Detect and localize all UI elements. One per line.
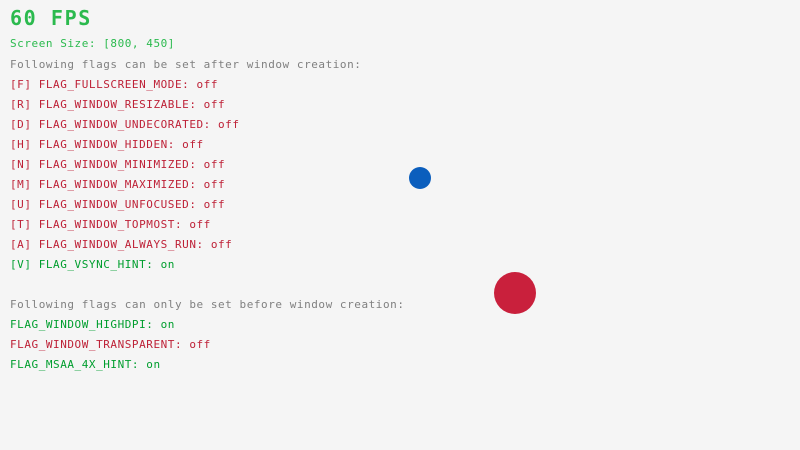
flag-row-flag-window-undecorated[interactable]: [D] FLAG_WINDOW_UNDECORATED: off — [10, 119, 240, 139]
flag-row-flag-window-resizable[interactable]: [R] FLAG_WINDOW_RESIZABLE: off — [10, 99, 240, 119]
flags-before-creation-list: FLAG_WINDOW_HIGHDPI: onFLAG_WINDOW_TRANS… — [10, 319, 211, 379]
flag-row-flag-window-topmost[interactable]: [T] FLAG_WINDOW_TOPMOST: off — [10, 219, 240, 239]
bouncing-ball-large — [494, 272, 536, 314]
bouncing-ball-small — [409, 167, 431, 189]
flag-row-flag-window-always-run[interactable]: [A] FLAG_WINDOW_ALWAYS_RUN: off — [10, 239, 240, 259]
fps-counter: 60 FPS — [10, 8, 92, 28]
flag-row-flag-window-hidden[interactable]: [H] FLAG_WINDOW_HIDDEN: off — [10, 139, 240, 159]
flag-row-flag-vsync-hint[interactable]: [V] FLAG_VSYNC_HINT: on — [10, 259, 240, 279]
flag-row-flag-window-unfocused[interactable]: [U] FLAG_WINDOW_UNFOCUSED: off — [10, 199, 240, 219]
flag-row-flag-window-maximized[interactable]: [M] FLAG_WINDOW_MAXIMIZED: off — [10, 179, 240, 199]
flag-row-flag-window-transparent: FLAG_WINDOW_TRANSPARENT: off — [10, 339, 211, 359]
flag-row-flag-msaa-4x-hint: FLAG_MSAA_4X_HINT: on — [10, 359, 211, 379]
after-creation-section-header: Following flags can be set after window … — [10, 59, 361, 70]
before-creation-section-header: Following flags can only be set before w… — [10, 299, 405, 310]
flag-row-flag-fullscreen-mode[interactable]: [F] FLAG_FULLSCREEN_MODE: off — [10, 79, 240, 99]
flag-row-flag-window-highdpi: FLAG_WINDOW_HIGHDPI: on — [10, 319, 211, 339]
flags-after-creation-list: [F] FLAG_FULLSCREEN_MODE: off[R] FLAG_WI… — [10, 79, 240, 279]
raylib-window-canvas[interactable]: 60 FPS Screen Size: [800, 450] Following… — [0, 0, 800, 450]
flag-row-flag-window-minimized[interactable]: [N] FLAG_WINDOW_MINIMIZED: off — [10, 159, 240, 179]
screen-size-label: Screen Size: [800, 450] — [10, 38, 175, 49]
